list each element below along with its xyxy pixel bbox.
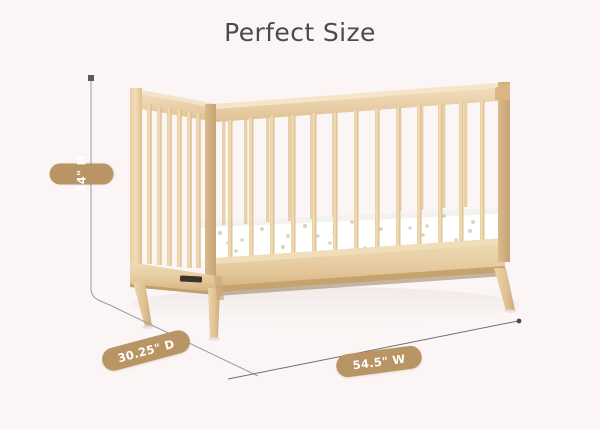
dimension-guide-lines	[0, 0, 600, 429]
dimension-label-height: 34" H	[50, 164, 114, 185]
infographic-stage: Perfect Size	[0, 0, 600, 429]
width-guide-endpoint-dot	[517, 319, 522, 324]
height-guide-line	[91, 80, 112, 306]
dimension-label-width-text: 54.5" W	[352, 351, 407, 372]
dimension-label-height-text: 34" H	[75, 155, 89, 192]
height-guide-endpoint-cap	[88, 75, 94, 81]
